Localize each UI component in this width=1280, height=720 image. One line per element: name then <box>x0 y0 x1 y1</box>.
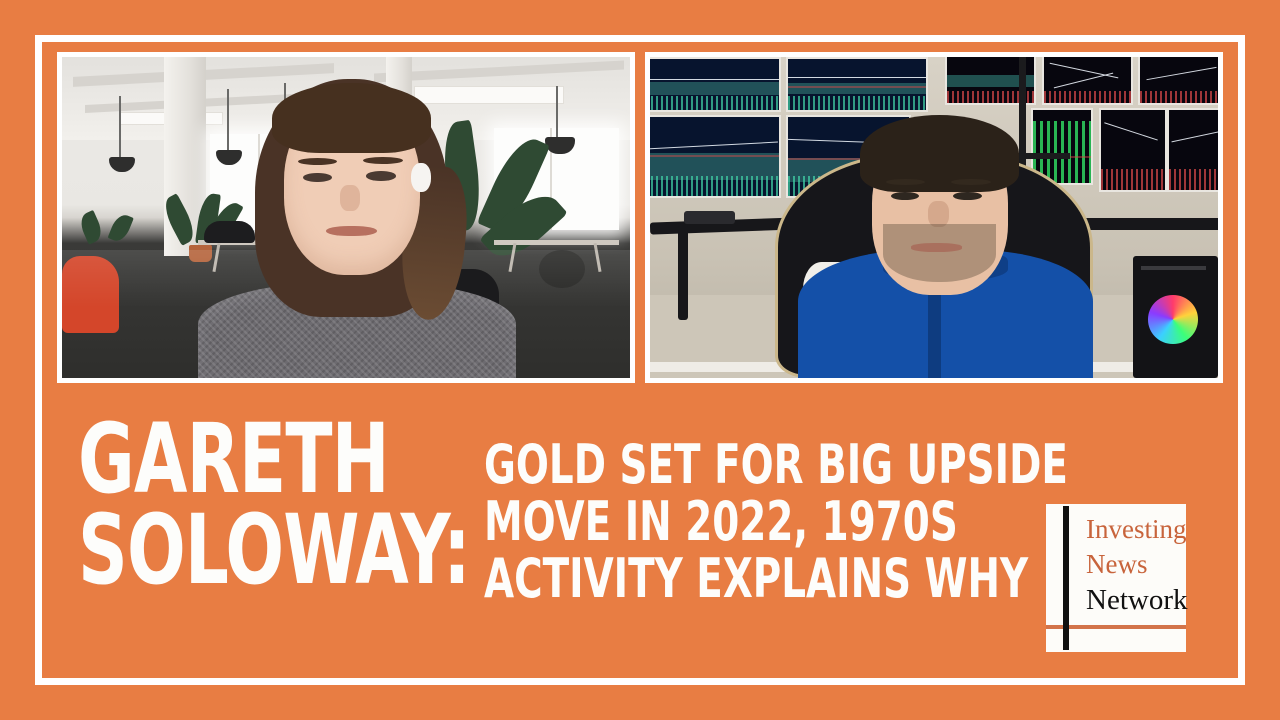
ceiling-light-panel <box>414 86 564 104</box>
logo-word-investing: Investing <box>1086 516 1187 543</box>
logo-word-news: News <box>1086 551 1148 578</box>
headline-line-1: GOLD SET FOR BIG UPSIDE <box>484 436 948 493</box>
headline-line-3: ACTIVITY EXPLAINS WHY <box>484 550 948 607</box>
pc-tower <box>1133 256 1218 378</box>
host-video-scene <box>62 57 630 378</box>
headline-block: GOLD SET FOR BIG UPSIDE MOVE IN 2022, 19… <box>484 436 1064 608</box>
host-nose <box>340 185 359 211</box>
trading-monitor <box>1042 57 1133 105</box>
video-strip <box>57 52 1223 383</box>
pendant-cord <box>556 86 558 141</box>
speaker-name-line-1: GARETH <box>78 414 398 505</box>
trading-monitor <box>786 57 928 112</box>
desk-leg <box>678 224 688 320</box>
guest-video-scene <box>650 57 1218 378</box>
trading-monitor <box>650 57 781 112</box>
investing-news-network-logo[interactable]: Investing News Network <box>1046 504 1186 652</box>
trading-monitor <box>650 115 781 198</box>
keyboard <box>684 211 735 224</box>
thumbnail-canvas: GARETH SOLOWAY: GOLD SET FOR BIG UPSIDE … <box>0 0 1280 720</box>
host-earbud <box>411 163 430 192</box>
pendant-cord <box>227 89 229 153</box>
host-video-panel[interactable] <box>57 52 635 383</box>
guest-eye <box>953 192 981 200</box>
trading-monitor <box>1099 108 1167 191</box>
guest-video-panel[interactable] <box>645 52 1223 383</box>
trading-monitor <box>1167 108 1218 191</box>
trading-monitor <box>1138 57 1218 105</box>
speaker-name-block: GARETH SOLOWAY: <box>78 414 478 596</box>
host-eyebrow <box>363 157 403 164</box>
logo-vertical-bar <box>1063 506 1069 650</box>
host-eye <box>366 171 396 181</box>
rgb-fan <box>1148 295 1197 344</box>
guest-hair <box>860 115 1019 192</box>
guest-mouth <box>911 243 962 251</box>
logo-word-network: Network <box>1086 586 1187 615</box>
office-chair <box>204 221 255 243</box>
speaker-name-line-2: SOLOWAY: <box>78 505 398 596</box>
pendant-cord <box>119 96 121 160</box>
guest-beard <box>883 224 997 282</box>
host-hair-top <box>272 83 431 154</box>
headline-line-2: MOVE IN 2022, 1970S <box>484 493 948 550</box>
